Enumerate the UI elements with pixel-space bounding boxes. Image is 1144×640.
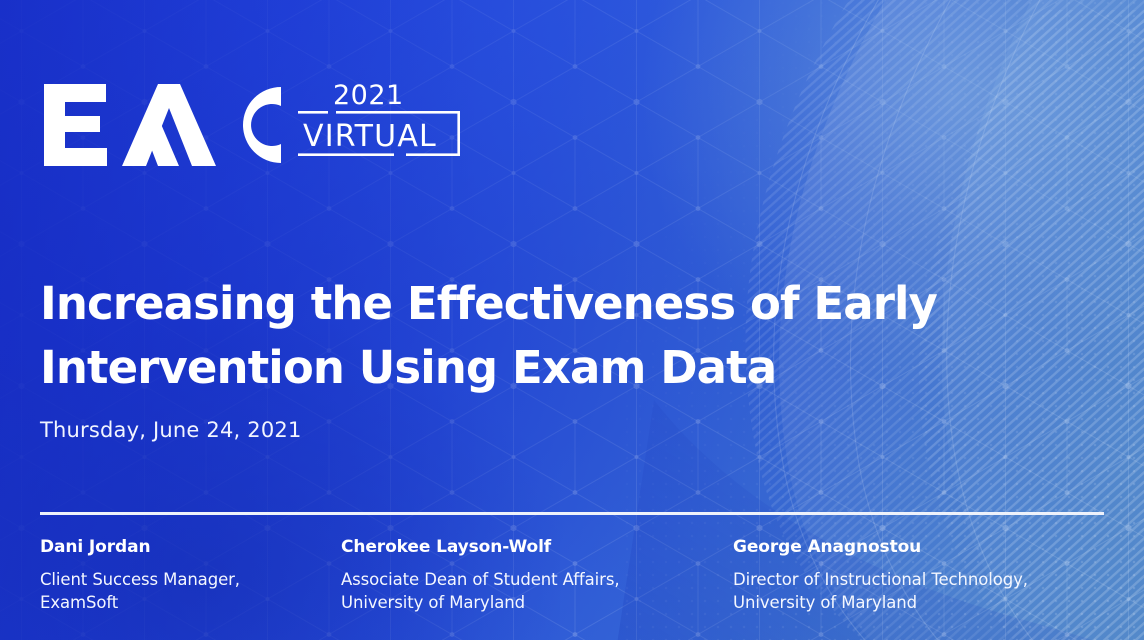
presenter-role-line-2: University of Maryland [341,591,731,614]
divider [40,512,1104,515]
presenter-role-line-2: University of Maryland [733,591,1120,614]
presenter-name: Dani Jordan [40,537,340,557]
presenter-card: George Anagnostou Director of Instructio… [733,537,1120,614]
eac-virtual-logo: 2021 VIRTUAL [40,78,460,170]
title-line-2: Intervention Using Exam Data [40,336,1000,400]
page-title: Increasing the Effectiveness of Early In… [40,272,1000,400]
presenter-role: Client Success Manager, ExamSoft [40,568,340,614]
presenter-list: Dani Jordan Client Success Manager, Exam… [40,537,1120,632]
presenter-role-line-1: Client Success Manager, [40,568,340,591]
presentation-slide: 2021 VIRTUAL Increasing the Effectivenes… [0,0,1144,640]
presenter-name: George Anagnostou [733,537,1120,557]
svg-text:VIRTUAL: VIRTUAL [303,119,437,154]
svg-text:2021: 2021 [333,80,404,111]
presenter-card: Dani Jordan Client Success Manager, Exam… [40,537,340,614]
eac-virtual-logo-icon: 2021 VIRTUAL [40,78,460,170]
presenter-role: Associate Dean of Student Affairs, Unive… [341,568,731,614]
presenter-role-line-1: Director of Instructional Technology, [733,568,1120,591]
presenter-role-line-2: ExamSoft [40,591,340,614]
event-date: Thursday, June 24, 2021 [40,418,302,442]
presenter-role: Director of Instructional Technology, Un… [733,568,1120,614]
presenter-card: Cherokee Layson-Wolf Associate Dean of S… [341,537,731,614]
title-line-1: Increasing the Effectiveness of Early [40,272,1000,336]
presenter-name: Cherokee Layson-Wolf [341,537,731,557]
presenter-role-line-1: Associate Dean of Student Affairs, [341,568,731,591]
